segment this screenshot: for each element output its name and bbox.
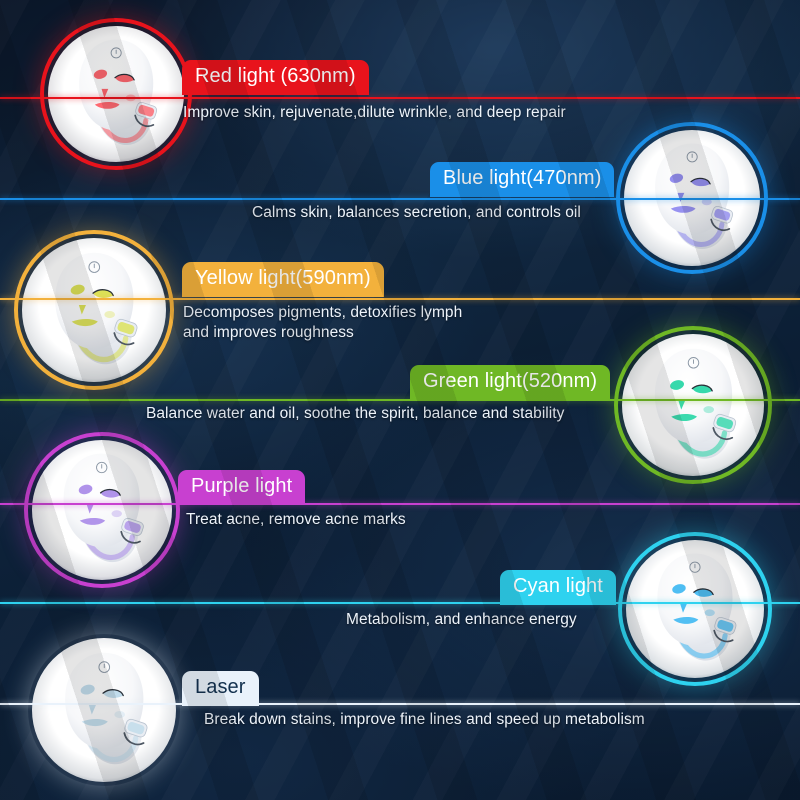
description-cyan: Metabolism, and enhance energy xyxy=(346,610,577,630)
badge-yellow: Yellow light(590nm) xyxy=(182,262,384,297)
badge-purple: Purple light xyxy=(178,470,305,505)
badge-laser: Laser xyxy=(182,671,259,706)
divider-red xyxy=(0,97,800,99)
mask-circle-purple xyxy=(24,432,180,588)
divider-cyan xyxy=(0,602,800,604)
led-face-mask-graphic xyxy=(60,32,172,156)
description-purple: Treat acne, remove acne marks xyxy=(186,510,406,530)
description-blue: Calms skin, balances secretion, and cont… xyxy=(252,203,581,223)
mask-circle-yellow xyxy=(14,230,174,390)
led-face-mask-graphic xyxy=(35,245,154,376)
badge-cyan: Cyan light xyxy=(500,570,616,605)
mask-image-purple xyxy=(44,446,159,573)
mask-circle-red xyxy=(40,18,192,170)
led-face-mask-graphic xyxy=(635,341,752,470)
description-yellow: Decomposes pigments, detoxifies lymph an… xyxy=(183,303,462,343)
led-face-mask-graphic xyxy=(44,446,159,573)
divider-purple xyxy=(0,503,800,505)
description-laser: Break down stains, improve fine lines an… xyxy=(204,710,645,730)
mask-image-cyan xyxy=(638,546,752,672)
mask-circle-laser xyxy=(28,634,180,786)
mask-image-red xyxy=(60,32,172,156)
divider-green xyxy=(0,399,800,401)
description-green: Balance water and oil, soothe the spirit… xyxy=(146,404,564,424)
divider-blue xyxy=(0,198,800,200)
divider-yellow xyxy=(0,298,800,300)
mask-circle-cyan xyxy=(618,532,772,686)
badge-red: Red light (630nm) xyxy=(182,60,369,95)
description-red: Improve skin, rejuvenate,dilute wrinkle,… xyxy=(183,103,566,123)
mask-circle-green xyxy=(614,326,772,484)
mask-image-yellow xyxy=(35,245,154,376)
divider-laser xyxy=(0,703,800,705)
badge-blue: Blue light(470nm) xyxy=(430,162,614,197)
badge-green: Green light(520nm) xyxy=(410,365,610,400)
infographic-canvas: Red light (630nm)Improve skin, rejuvenat… xyxy=(0,0,800,800)
mask-image-laser xyxy=(45,645,164,776)
led-face-mask-graphic xyxy=(45,645,164,776)
led-face-mask-graphic xyxy=(638,546,752,672)
mask-image-green xyxy=(635,341,752,470)
